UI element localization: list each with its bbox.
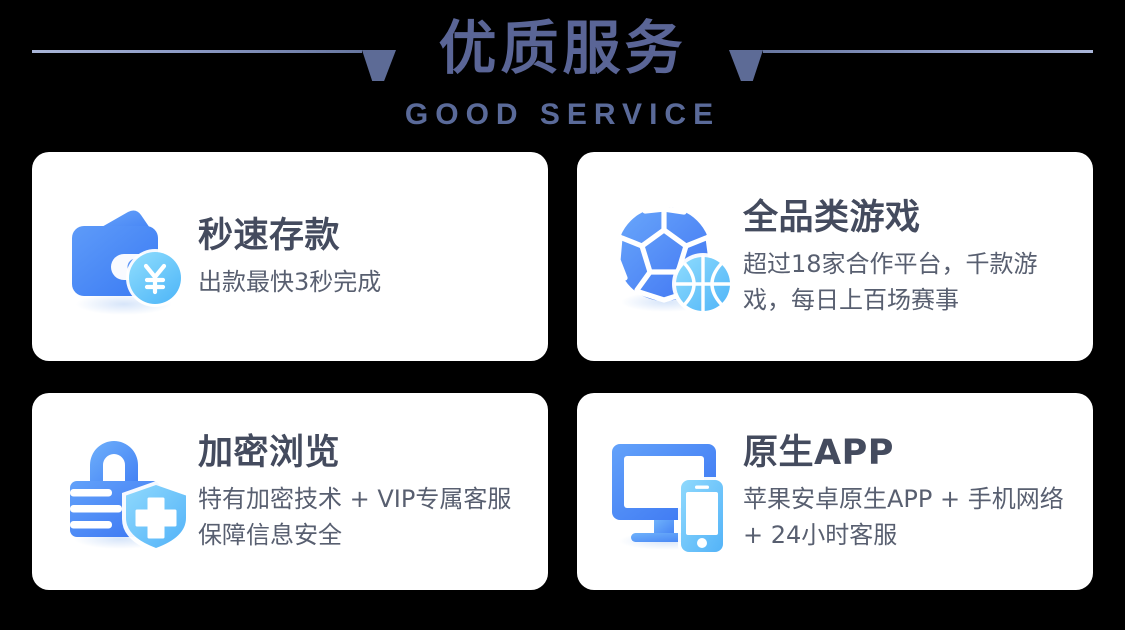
service-feature-banner: 优质服务 GOOD SERVICE [0, 0, 1125, 630]
card-title: 全品类游戏 [743, 196, 1079, 240]
card-text-block: 全品类游戏 超过18家合作平台，千款游戏，每日上百场赛事 [737, 196, 1079, 318]
wallet-yen-icon [62, 192, 192, 322]
soccer-basketball-icon [607, 192, 737, 322]
card-subtitle: 苹果安卓原生APP + 手机网络 + 24小时客服 [743, 481, 1079, 553]
card-text-block: 秒速存款 出款最快3秒完成 [192, 214, 534, 300]
card-title: 原生APP [743, 431, 1079, 475]
feature-card-encryption[interactable]: 加密浏览 特有加密技术 + VIP专属客服保障信息安全 [32, 393, 548, 590]
card-title: 秒速存款 [198, 214, 534, 258]
monitor-phone-icon [607, 427, 737, 557]
feature-card-deposit[interactable]: 秒速存款 出款最快3秒完成 [32, 152, 548, 361]
header: 优质服务 GOOD SERVICE [0, 0, 1125, 145]
card-subtitle: 超过18家合作平台，千款游戏，每日上百场赛事 [743, 246, 1079, 318]
feature-card-games[interactable]: 全品类游戏 超过18家合作平台，千款游戏，每日上百场赛事 [577, 152, 1093, 361]
card-title: 加密浏览 [198, 431, 534, 475]
lock-shield-icon [62, 427, 192, 557]
card-text-block: 加密浏览 特有加密技术 + VIP专属客服保障信息安全 [192, 431, 534, 553]
feature-card-native-app[interactable]: 原生APP 苹果安卓原生APP + 手机网络 + 24小时客服 [577, 393, 1093, 590]
page-title-cn: 优质服务 [0, 14, 1125, 82]
card-subtitle: 出款最快3秒完成 [198, 264, 534, 300]
page-title-en: GOOD SERVICE [0, 98, 1125, 132]
feature-card-grid: 秒速存款 出款最快3秒完成 [32, 152, 1093, 590]
card-text-block: 原生APP 苹果安卓原生APP + 手机网络 + 24小时客服 [737, 431, 1079, 553]
card-subtitle: 特有加密技术 + VIP专属客服保障信息安全 [198, 481, 534, 553]
